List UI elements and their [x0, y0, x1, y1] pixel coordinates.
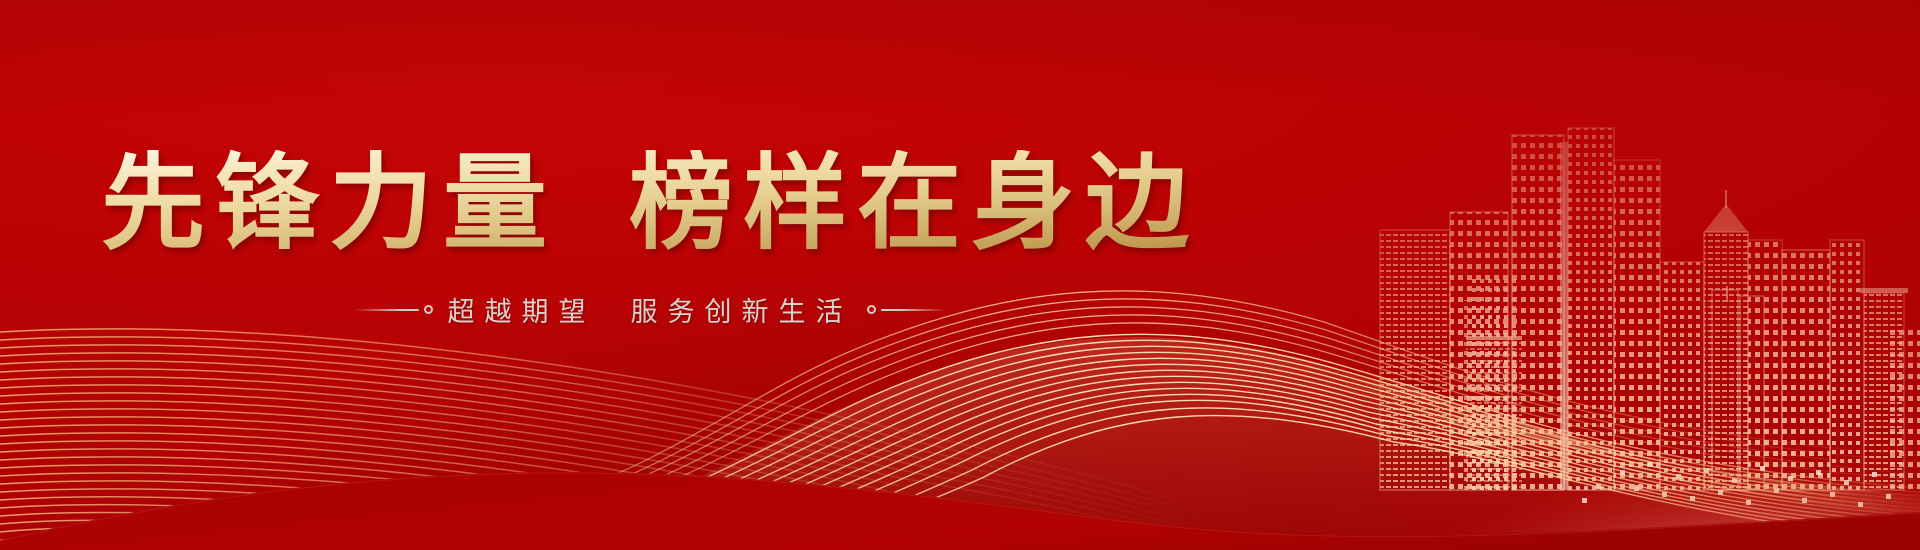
ornament-right-bar: [881, 309, 947, 311]
ornament-right-icon: [867, 305, 947, 314]
ornament-right-dot: [867, 305, 876, 314]
ornament-left-dot: [424, 305, 433, 314]
text-block: 先锋力量 榜样在身边 超越期望 服务创新生活: [0, 150, 1300, 329]
ornament-left-icon: [353, 305, 433, 314]
banner-root: 先锋力量 榜样在身边 超越期望 服务创新生活: [0, 0, 1920, 550]
page-subtitle: 超越期望 服务创新生活: [447, 290, 852, 329]
page-title: 先锋力量 榜样在身边: [0, 150, 1300, 260]
subtitle-row: 超越期望 服务创新生活: [0, 290, 1300, 329]
ornament-left-bar: [353, 309, 419, 311]
